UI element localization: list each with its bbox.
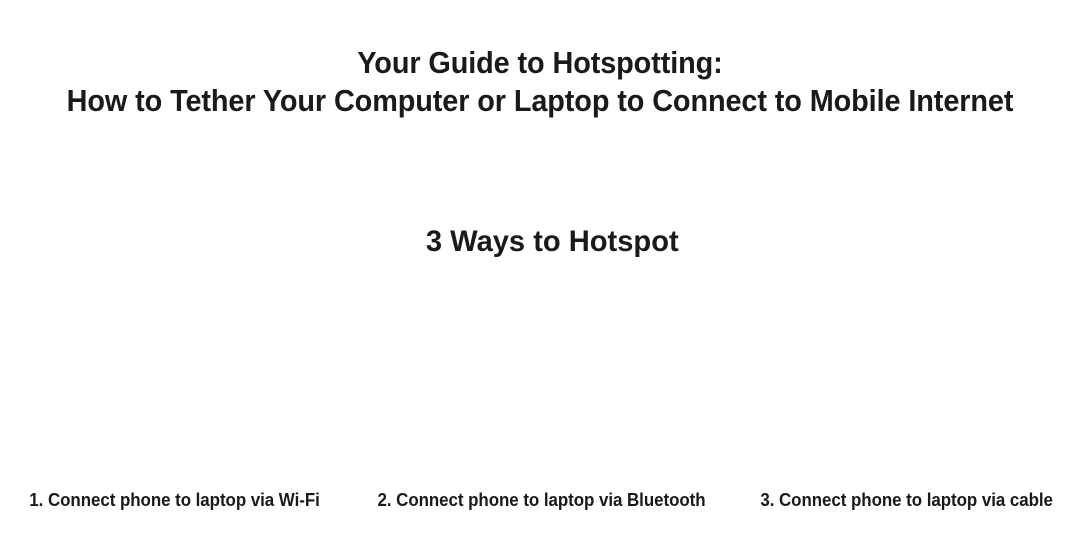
method-caption-row: 1. Connect phone to laptop via Wi-Fi 2. … (0, 486, 1080, 514)
illustration-slot-wifi (0, 280, 360, 475)
page-title-line-1: Your Guide to Hotspotting: (38, 44, 1042, 82)
illustration-slot-bluetooth (360, 280, 720, 475)
method-caption-wifi: 1. Connect phone to laptop via Wi-Fi (0, 486, 367, 514)
method-caption-wifi-text: 1. Connect phone to laptop via Wi-Fi (29, 489, 320, 511)
section-heading-text: 3 Ways to Hotspot (426, 224, 679, 260)
illustration-slot-cable (720, 280, 1080, 475)
method-caption-bluetooth: 2. Connect phone to laptop via Bluetooth (367, 486, 716, 514)
method-caption-cable: 3. Connect phone to laptop via cable (716, 486, 1080, 514)
page-title-line-2: How to Tether Your Computer or Laptop to… (38, 82, 1042, 120)
infographic-page: Your Guide to Hotspotting: How to Tether… (0, 0, 1080, 552)
method-caption-cable-text: 3. Connect phone to laptop via cable (760, 489, 1053, 511)
section-heading: 3 Ways to Hotspot (0, 224, 1080, 260)
page-title: Your Guide to Hotspotting: How to Tether… (0, 44, 1080, 120)
illustration-band (0, 280, 1080, 475)
method-caption-bluetooth-text: 2. Connect phone to laptop via Bluetooth (377, 489, 705, 511)
